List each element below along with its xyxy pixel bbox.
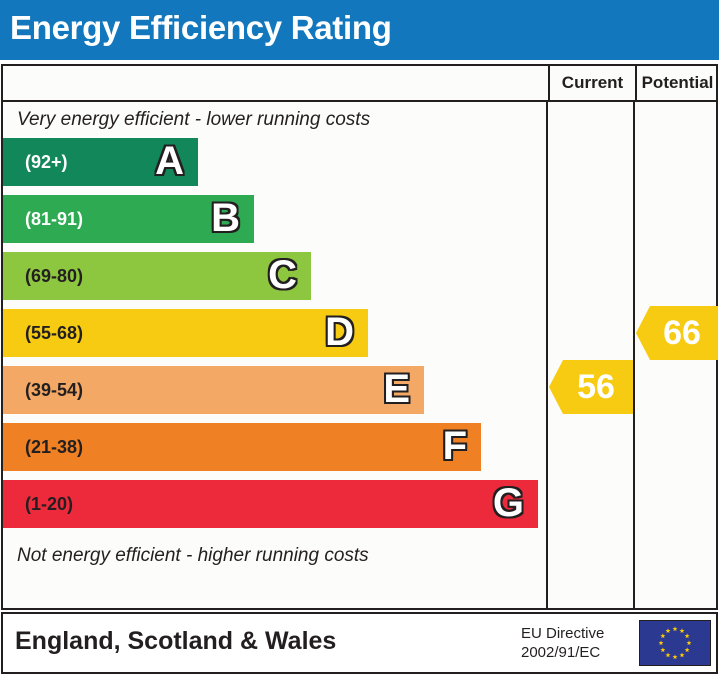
band-letter-label: B xyxy=(211,195,240,243)
rating-table: Current Potential Very energy efficient … xyxy=(1,64,718,610)
band-range-label: (92+) xyxy=(25,138,68,186)
column-header-row: Current Potential xyxy=(3,66,716,102)
band-letter-label: D xyxy=(325,309,354,357)
rating-arrow-current: 56 xyxy=(549,360,633,414)
footer-directive-line1: EU Directive xyxy=(521,624,631,643)
band-letter-label: G xyxy=(493,480,524,528)
epc-certificate: Energy Efficiency Rating Current Potenti… xyxy=(0,0,719,675)
column-header-current: Current xyxy=(548,66,635,100)
band-g: (1-20)G xyxy=(3,480,538,528)
band-e: (39-54)E xyxy=(3,366,424,414)
band-range-label: (81-91) xyxy=(25,195,83,243)
column-divider-1 xyxy=(546,102,548,608)
page-title: Energy Efficiency Rating xyxy=(10,9,392,47)
band-letter-label: C xyxy=(268,252,297,300)
band-d: (55-68)D xyxy=(3,309,368,357)
footer-region-label: England, Scotland & Wales xyxy=(15,627,336,656)
footer-directive-line2: 2002/91/EC xyxy=(521,643,631,662)
column-header-potential: Potential xyxy=(635,66,718,100)
band-letter-label: F xyxy=(443,423,467,471)
band-range-label: (1-20) xyxy=(25,480,73,528)
rating-arrow-potential: 66 xyxy=(636,306,718,360)
band-range-label: (21-38) xyxy=(25,423,83,471)
title-bar: Energy Efficiency Rating xyxy=(0,0,719,60)
band-range-label: (69-80) xyxy=(25,252,83,300)
column-divider-2 xyxy=(633,102,635,608)
band-list: (92+)A(81-91)B(69-80)C(55-68)D(39-54)E(2… xyxy=(3,138,546,538)
eu-flag-icon xyxy=(639,620,711,666)
band-letter-label: A xyxy=(155,138,184,186)
band-a: (92+)A xyxy=(3,138,198,186)
band-c: (69-80)C xyxy=(3,252,311,300)
footer-bar: England, Scotland & Wales EU Directive 2… xyxy=(1,612,718,674)
band-f: (21-38)F xyxy=(3,423,481,471)
footer-directive: EU Directive 2002/91/EC xyxy=(521,624,631,662)
band-range-label: (39-54) xyxy=(25,366,83,414)
band-range-label: (55-68) xyxy=(25,309,83,357)
band-b: (81-91)B xyxy=(3,195,254,243)
band-letter-label: E xyxy=(383,366,410,414)
caption-not-efficient: Not energy efficient - higher running co… xyxy=(3,538,546,574)
caption-very-efficient: Very energy efficient - lower running co… xyxy=(3,102,546,138)
